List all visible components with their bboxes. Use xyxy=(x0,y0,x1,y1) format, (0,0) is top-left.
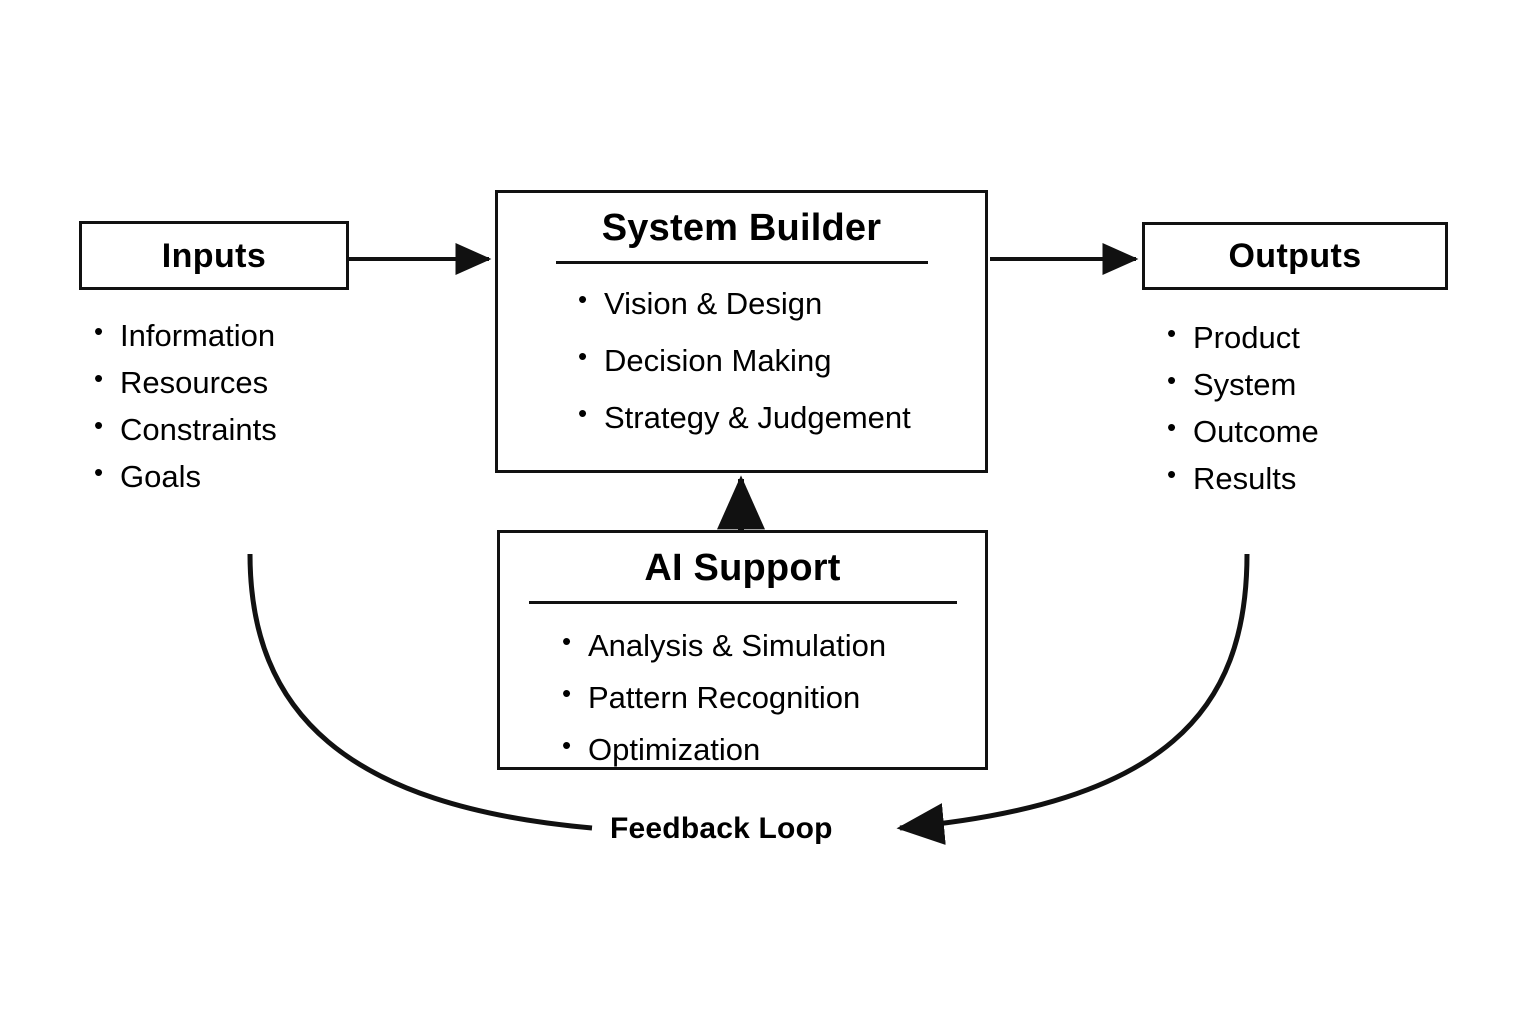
diagram-canvas: Inputs Information Resources Constraints… xyxy=(0,0,1536,1024)
list-item: Pattern Recognition xyxy=(558,682,985,713)
node-inputs[interactable]: Inputs xyxy=(79,221,349,290)
list-item: Resources xyxy=(90,367,390,398)
node-outputs[interactable]: Outputs xyxy=(1142,222,1448,290)
title-divider xyxy=(529,601,957,604)
list-item: Information xyxy=(90,320,390,351)
list-item: Decision Making xyxy=(574,345,985,376)
node-system-builder[interactable]: System Builder Vision & Design Decision … xyxy=(495,190,988,473)
node-inputs-list: Information Resources Constraints Goals xyxy=(90,320,390,508)
list-item: Strategy & Judgement xyxy=(574,402,985,433)
list-item: Goals xyxy=(90,461,390,492)
list-item: Optimization xyxy=(558,734,985,765)
feedback-loop-label: Feedback Loop xyxy=(600,810,843,848)
list-item: Vision & Design xyxy=(574,288,985,319)
node-inputs-title: Inputs xyxy=(162,239,266,273)
node-system-builder-list: Vision & Design Decision Making Strategy… xyxy=(574,288,985,433)
node-ai-support[interactable]: AI Support Analysis & Simulation Pattern… xyxy=(497,530,988,770)
list-item: System xyxy=(1163,369,1463,400)
list-item: Outcome xyxy=(1163,416,1463,447)
list-item: Product xyxy=(1163,322,1463,353)
node-ai-support-title: AI Support xyxy=(500,547,985,591)
node-ai-support-list: Analysis & Simulation Pattern Recognitio… xyxy=(558,630,985,765)
list-item: Constraints xyxy=(90,414,390,445)
list-item: Analysis & Simulation xyxy=(558,630,985,661)
list-item: Results xyxy=(1163,463,1463,494)
title-divider xyxy=(556,261,928,264)
node-outputs-title: Outputs xyxy=(1228,239,1361,273)
connector-layer xyxy=(0,0,1536,1024)
node-system-builder-title: System Builder xyxy=(498,207,985,251)
node-outputs-list: Product System Outcome Results xyxy=(1163,322,1463,510)
